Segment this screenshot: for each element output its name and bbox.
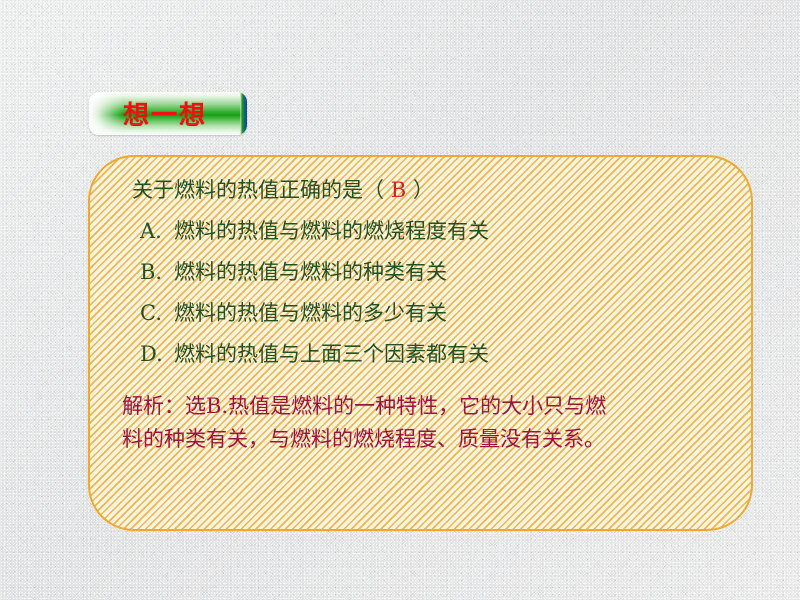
slide-canvas: 想一想 关于燃料的热值正确的是（ B ） A.燃料的热值与燃料的燃烧程度有关 B…	[0, 0, 800, 600]
think-badge: 想一想	[89, 92, 247, 135]
explanation-line-1: 解析：选B.热值是燃料的一种特性，它的大小只与燃	[122, 390, 725, 423]
option-row-c: C.燃料的热值与燃料的多少有关	[140, 303, 725, 324]
question-answer-key: B	[391, 178, 406, 202]
option-row-a: A.燃料的热值与燃料的燃烧程度有关	[140, 221, 725, 242]
explanation-block: 解析：选B.热值是燃料的一种特性，它的大小只与燃 料的种类有关，与燃料的燃烧程度…	[122, 390, 725, 455]
question-panel-content: 关于燃料的热值正确的是（ B ） A.燃料的热值与燃料的燃烧程度有关 B.燃料的…	[90, 157, 751, 529]
question-suffix: ）	[413, 178, 434, 202]
option-text-b: 燃料的热值与燃料的种类有关	[174, 260, 447, 284]
explanation-line-2: 料的种类有关，与燃料的燃烧程度、质量没有关系。	[122, 423, 725, 456]
option-letter-c: C.	[140, 303, 174, 324]
option-letter-b: B.	[140, 262, 174, 283]
badge-label: 想一想	[89, 92, 247, 135]
option-row-d: D.燃料的热值与上面三个因素都有关	[140, 344, 725, 365]
option-letter-a: A.	[140, 221, 174, 242]
option-text-d: 燃料的热值与上面三个因素都有关	[174, 342, 489, 366]
question-stem: 关于燃料的热值正确的是（ B ）	[132, 180, 725, 201]
option-text-a: 燃料的热值与燃料的燃烧程度有关	[174, 219, 489, 243]
option-text-c: 燃料的热值与燃料的多少有关	[174, 301, 447, 325]
option-row-b: B.燃料的热值与燃料的种类有关	[140, 262, 725, 283]
option-letter-d: D.	[140, 344, 174, 365]
question-prefix: 关于燃料的热值正确的是（	[132, 178, 384, 202]
question-panel: 关于燃料的热值正确的是（ B ） A.燃料的热值与燃料的燃烧程度有关 B.燃料的…	[88, 155, 753, 531]
